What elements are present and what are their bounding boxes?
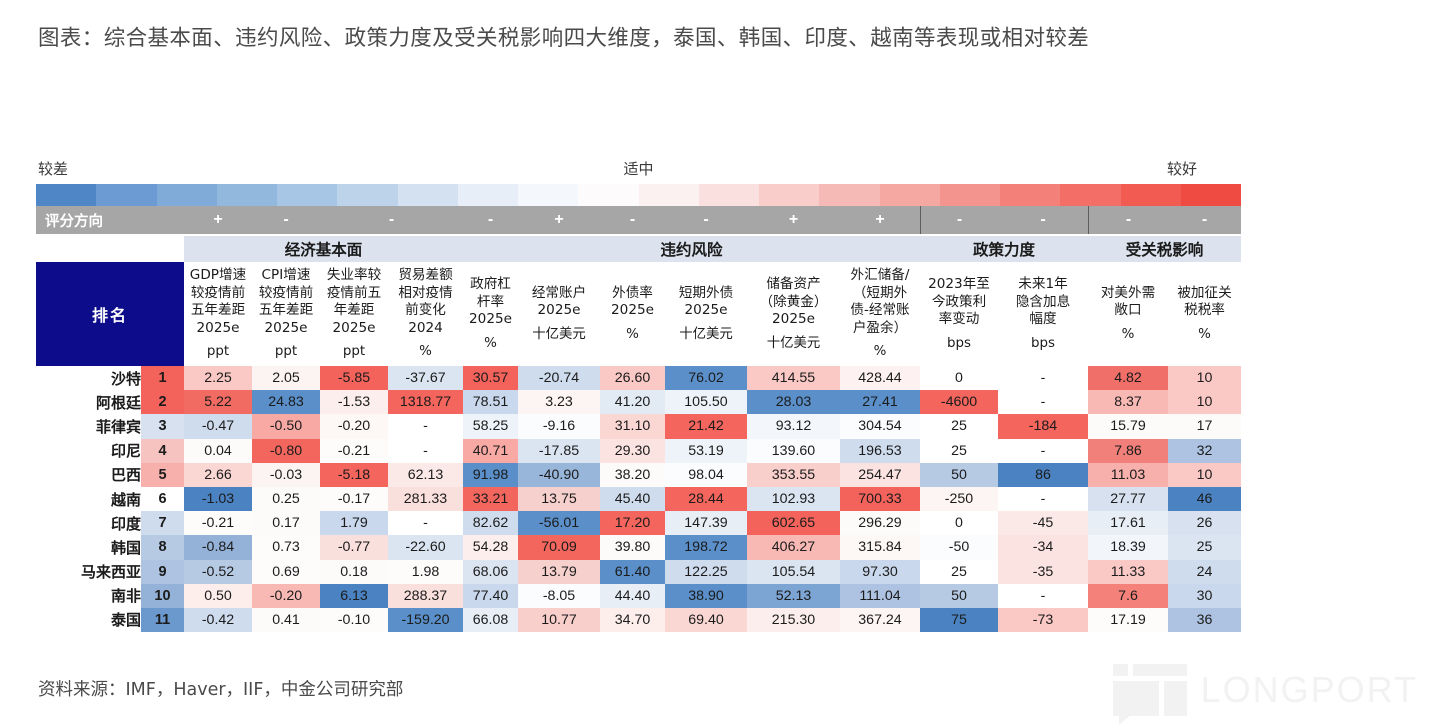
legend-swatch-17 xyxy=(1060,184,1120,206)
cell-value: 304.54 xyxy=(840,414,920,438)
cell-value: 82.62 xyxy=(463,511,518,535)
rank-value: 9 xyxy=(141,560,184,584)
country-name: 阿根廷 xyxy=(36,390,141,414)
column-header-unit: ppt xyxy=(184,343,252,361)
column-header-name: 失业率较疫情前五年差距2025e xyxy=(327,267,381,336)
cell-value: 97.30 xyxy=(840,560,920,584)
country-name: 越南 xyxy=(36,487,141,511)
column-header-unit: 十亿美元 xyxy=(747,335,840,353)
score-direction-11: - xyxy=(1088,206,1168,234)
cell-value: 428.44 xyxy=(840,366,920,390)
cell-value: -0.10 xyxy=(320,608,388,632)
column-header-3: 贸易差额相对疫情前变化2024% xyxy=(388,262,463,366)
column-header-name: 短期外债2025e xyxy=(679,285,733,319)
cell-value: 700.33 xyxy=(840,487,920,511)
legend-label-worse: 较差 xyxy=(38,158,68,179)
cell-value: 3.23 xyxy=(518,390,600,414)
legend-swatch-1 xyxy=(96,184,156,206)
cell-value: - xyxy=(998,487,1088,511)
column-header-name: 对美外需敞口 xyxy=(1101,285,1155,319)
cell-value: -40.90 xyxy=(518,463,600,487)
cell-value: 122.25 xyxy=(665,560,747,584)
cell-value: -250 xyxy=(920,487,998,511)
cell-value: -34 xyxy=(998,535,1088,559)
country-name: 马来西亚 xyxy=(36,560,141,584)
country-name: 印度 xyxy=(36,511,141,535)
column-header-10: 2023年至今政策利率变动bps xyxy=(920,262,998,366)
score-direction-6: - xyxy=(665,206,747,234)
cell-value: 70.09 xyxy=(518,535,600,559)
cell-value: 111.04 xyxy=(840,584,920,608)
cell-value: -22.60 xyxy=(388,535,463,559)
cell-value: 44.40 xyxy=(600,584,665,608)
rank-header: 排名 xyxy=(36,262,184,366)
table-row: 南非100.50-0.206.13288.3777.40-8.0544.4038… xyxy=(36,584,1241,608)
table-row: 沙特12.252.05-5.85-37.6730.57-20.7426.6076… xyxy=(36,366,1241,390)
cell-value: 353.55 xyxy=(747,463,840,487)
column-header-name: 经常账户2025e xyxy=(532,285,586,319)
cell-value: 0.69 xyxy=(252,560,320,584)
cell-value: 7.6 xyxy=(1088,584,1168,608)
cell-value: -0.77 xyxy=(320,535,388,559)
cell-value: 30.57 xyxy=(463,366,518,390)
cell-value: 75 xyxy=(920,608,998,632)
legend: 较差 适中 较好 评分方向+---+--++---- xyxy=(36,158,1241,234)
cell-value: 68.06 xyxy=(463,560,518,584)
table-row: 韩国8-0.840.73-0.77-22.6054.2870.0939.8019… xyxy=(36,535,1241,559)
cell-value: 26.60 xyxy=(600,366,665,390)
column-header-name: 政府杠杆率2025e xyxy=(469,276,512,327)
source-note: 资料来源：IMF，Haver，IIF，中金公司研究部 xyxy=(38,676,403,701)
table-row: 马来西亚9-0.520.690.181.9868.0613.7961.40122… xyxy=(36,560,1241,584)
column-header-unit: bps xyxy=(920,335,998,353)
cell-value: 18.39 xyxy=(1088,535,1168,559)
cell-value: 61.40 xyxy=(600,560,665,584)
column-header-8: 储备资产（除黄金）2025e十亿美元 xyxy=(747,262,840,366)
cell-value: 52.13 xyxy=(747,584,840,608)
cell-value: 86 xyxy=(998,463,1088,487)
rank-value: 3 xyxy=(141,414,184,438)
cell-value: -0.52 xyxy=(184,560,252,584)
cell-value: 367.24 xyxy=(840,608,920,632)
cell-value: -35 xyxy=(998,560,1088,584)
legend-swatch-19 xyxy=(1181,184,1241,206)
cell-value: 93.12 xyxy=(747,414,840,438)
rank-value: 4 xyxy=(141,439,184,463)
cell-value: -159.20 xyxy=(388,608,463,632)
column-header-unit: % xyxy=(1168,326,1241,344)
cell-value: 11.03 xyxy=(1088,463,1168,487)
score-direction-2: - xyxy=(320,206,463,234)
column-header-1: CPI增速较疫情前五年差距2025eppt xyxy=(252,262,320,366)
cell-value: 25 xyxy=(920,414,998,438)
cell-value: -0.17 xyxy=(320,487,388,511)
rank-value: 11 xyxy=(141,608,184,632)
score-direction-8: + xyxy=(840,206,920,234)
cell-value: 315.84 xyxy=(840,535,920,559)
cell-value: 13.79 xyxy=(518,560,600,584)
legend-swatch-14 xyxy=(880,184,940,206)
cell-value: - xyxy=(388,414,463,438)
column-header-name: 被加征关税税率 xyxy=(1177,285,1231,319)
country-name: 巴西 xyxy=(36,463,141,487)
score-direction-3: - xyxy=(463,206,518,234)
cell-value: -0.50 xyxy=(252,414,320,438)
legend-labels: 较差 适中 较好 xyxy=(36,158,1241,184)
cell-value: 215.30 xyxy=(747,608,840,632)
score-direction-10: - xyxy=(998,206,1088,234)
legend-swatch-10 xyxy=(639,184,699,206)
cell-value: 17.20 xyxy=(600,511,665,535)
column-header-name: 储备资产（除黄金）2025e xyxy=(760,276,828,327)
column-header-12: 对美外需敞口% xyxy=(1088,262,1168,366)
cell-value: 30 xyxy=(1168,584,1241,608)
group-header-3: 受关税影响 xyxy=(1088,236,1241,262)
cell-value: 54.28 xyxy=(463,535,518,559)
column-header-unit: % xyxy=(463,335,518,353)
cell-value: 36 xyxy=(1168,608,1241,632)
cell-value: -9.16 xyxy=(518,414,600,438)
cell-value: 24 xyxy=(1168,560,1241,584)
score-direction-5: - xyxy=(600,206,665,234)
cell-value: 147.39 xyxy=(665,511,747,535)
column-header-unit: % xyxy=(600,326,665,344)
country-name: 印尼 xyxy=(36,439,141,463)
column-header-unit: 十亿美元 xyxy=(518,326,600,344)
group-header-row: 经济基本面违约风险政策力度受关税影响 xyxy=(36,236,1241,262)
cell-value: - xyxy=(998,584,1088,608)
country-name: 菲律宾 xyxy=(36,414,141,438)
column-header-name: GDP增速较疫情前五年差距2025e xyxy=(190,267,246,336)
legend-swatch-4 xyxy=(277,184,337,206)
cell-value: 0.41 xyxy=(252,608,320,632)
cell-value: 45.40 xyxy=(600,487,665,511)
cell-value: 196.53 xyxy=(840,439,920,463)
score-direction-row: 评分方向+---+--++---- xyxy=(36,206,1241,234)
cell-value: -4600 xyxy=(920,390,998,414)
column-header-unit: 十亿美元 xyxy=(665,326,747,344)
cell-value: 7.86 xyxy=(1088,439,1168,463)
cell-value: 1.98 xyxy=(388,560,463,584)
cell-value: 91.98 xyxy=(463,463,518,487)
cell-value: 17 xyxy=(1168,414,1241,438)
legend-swatch-3 xyxy=(217,184,277,206)
cell-value: 102.93 xyxy=(747,487,840,511)
cell-value: - xyxy=(998,390,1088,414)
cell-value: 1.79 xyxy=(320,511,388,535)
column-header-name: 贸易差额相对疫情前变化2024 xyxy=(398,267,452,336)
cell-value: -0.20 xyxy=(252,584,320,608)
cell-value: 38.90 xyxy=(665,584,747,608)
legend-color-bar xyxy=(36,184,1241,206)
cell-value: 78.51 xyxy=(463,390,518,414)
legend-swatch-5 xyxy=(337,184,397,206)
cell-value: 414.55 xyxy=(747,366,840,390)
cell-value: 62.13 xyxy=(388,463,463,487)
column-header-11: 未来1年隐含加息幅度bps xyxy=(998,262,1088,366)
legend-swatch-11 xyxy=(699,184,759,206)
cell-value: -0.42 xyxy=(184,608,252,632)
cell-value: 39.80 xyxy=(600,535,665,559)
cell-value: 0.25 xyxy=(252,487,320,511)
column-header-unit: ppt xyxy=(252,343,320,361)
column-header-name: 未来1年隐含加息幅度 xyxy=(1016,276,1070,327)
cell-value: 2.25 xyxy=(184,366,252,390)
cell-value: 34.70 xyxy=(600,608,665,632)
group-header-spacer xyxy=(36,236,141,262)
score-direction-9: - xyxy=(920,206,998,234)
cell-value: -5.18 xyxy=(320,463,388,487)
legend-swatch-0 xyxy=(36,184,96,206)
column-header-unit: % xyxy=(840,343,920,361)
rank-value: 2 xyxy=(141,390,184,414)
cell-value: 2.05 xyxy=(252,366,320,390)
cell-value: 288.37 xyxy=(388,584,463,608)
cell-value: -1.03 xyxy=(184,487,252,511)
cell-value: 53.19 xyxy=(665,439,747,463)
cell-value: 27.41 xyxy=(840,390,920,414)
longport-logo-icon xyxy=(1113,664,1187,716)
column-header-unit: % xyxy=(388,343,463,361)
cell-value: 0.17 xyxy=(252,511,320,535)
column-header-row: 排名 GDP增速较疫情前五年差距2025epptCPI增速较疫情前五年差距202… xyxy=(36,262,1241,366)
cell-value: 2.66 xyxy=(184,463,252,487)
cell-value: 76.02 xyxy=(665,366,747,390)
legend-swatch-12 xyxy=(759,184,819,206)
cell-value: -73 xyxy=(998,608,1088,632)
cell-value: 10 xyxy=(1168,366,1241,390)
cell-value: 0 xyxy=(920,511,998,535)
cell-value: -56.01 xyxy=(518,511,600,535)
cell-value: -0.84 xyxy=(184,535,252,559)
cell-value: 281.33 xyxy=(388,487,463,511)
cell-value: 28.44 xyxy=(665,487,747,511)
cell-value: 15.79 xyxy=(1088,414,1168,438)
country-name: 泰国 xyxy=(36,608,141,632)
cell-value: 69.40 xyxy=(665,608,747,632)
legend-swatch-18 xyxy=(1121,184,1181,206)
cell-value: -0.47 xyxy=(184,414,252,438)
cell-value: -8.05 xyxy=(518,584,600,608)
cell-value: 66.08 xyxy=(463,608,518,632)
cell-value: 0 xyxy=(920,366,998,390)
cell-value: 0.18 xyxy=(320,560,388,584)
table-row: 印尼40.04-0.80-0.21-40.71-17.8529.3053.191… xyxy=(36,439,1241,463)
legend-swatch-2 xyxy=(157,184,217,206)
cell-value: -184 xyxy=(998,414,1088,438)
cell-value: 105.54 xyxy=(747,560,840,584)
score-direction-1: - xyxy=(252,206,320,234)
cell-value: 10 xyxy=(1168,390,1241,414)
cell-value: 198.72 xyxy=(665,535,747,559)
cell-value: 4.82 xyxy=(1088,366,1168,390)
cell-value: 17.19 xyxy=(1088,608,1168,632)
country-name: 沙特 xyxy=(36,366,141,390)
cell-value: 11.33 xyxy=(1088,560,1168,584)
cell-value: 77.40 xyxy=(463,584,518,608)
legend-swatch-9 xyxy=(578,184,638,206)
legend-swatch-7 xyxy=(458,184,518,206)
table-row: 越南6-1.030.25-0.17281.3333.2113.7545.4028… xyxy=(36,487,1241,511)
cell-value: 0.50 xyxy=(184,584,252,608)
score-direction-12: - xyxy=(1168,206,1241,234)
rank-value: 10 xyxy=(141,584,184,608)
cell-value: 602.65 xyxy=(747,511,840,535)
cell-value: -5.85 xyxy=(320,366,388,390)
group-header-2: 政策力度 xyxy=(920,236,1088,262)
cell-value: 13.75 xyxy=(518,487,600,511)
cell-value: - xyxy=(998,366,1088,390)
column-header-2: 失业率较疫情前五年差距2025eppt xyxy=(320,262,388,366)
cell-value: 58.25 xyxy=(463,414,518,438)
column-header-name: 外债率2025e xyxy=(611,285,654,319)
cell-value: 21.42 xyxy=(665,414,747,438)
cell-value: 40.71 xyxy=(463,439,518,463)
cell-value: 0.73 xyxy=(252,535,320,559)
cell-value: 25 xyxy=(920,560,998,584)
cell-value: -37.67 xyxy=(388,366,463,390)
cell-value: 31.10 xyxy=(600,414,665,438)
column-header-unit: % xyxy=(1088,326,1168,344)
cell-value: 25 xyxy=(920,439,998,463)
country-name: 韩国 xyxy=(36,535,141,559)
cell-value: 105.50 xyxy=(665,390,747,414)
cell-value: 38.20 xyxy=(600,463,665,487)
page-title: 图表：综合基本面、违约风险、政策力度及受关税影响四大维度，泰国、韩国、印度、越南… xyxy=(38,16,1398,62)
cell-value: -0.20 xyxy=(320,414,388,438)
table-row: 巴西52.66-0.03-5.1862.1391.98-40.9038.2098… xyxy=(36,463,1241,487)
cell-value: 98.04 xyxy=(665,463,747,487)
legend-swatch-8 xyxy=(518,184,578,206)
cell-value: 32 xyxy=(1168,439,1241,463)
column-header-6: 外债率2025e% xyxy=(600,262,665,366)
cell-value: 10 xyxy=(1168,463,1241,487)
cell-value: 0.04 xyxy=(184,439,252,463)
column-header-unit: bps xyxy=(998,335,1088,353)
legend-swatch-15 xyxy=(940,184,1000,206)
cell-value: 24.83 xyxy=(252,390,320,414)
score-direction-0: + xyxy=(184,206,252,234)
column-header-4: 政府杠杆率2025e% xyxy=(463,262,518,366)
cell-value: 8.37 xyxy=(1088,390,1168,414)
cell-value: 28.03 xyxy=(747,390,840,414)
cell-value: 10.77 xyxy=(518,608,600,632)
group-header-spacer-rank xyxy=(141,236,184,262)
cell-value: 27.77 xyxy=(1088,487,1168,511)
cell-value: - xyxy=(388,439,463,463)
watermark: LONGPORT xyxy=(1113,664,1418,716)
legend-swatch-13 xyxy=(819,184,879,206)
table-row: 菲律宾3-0.47-0.50-0.20-58.25-9.1631.1021.42… xyxy=(36,414,1241,438)
cell-value: -0.03 xyxy=(252,463,320,487)
cell-value: 5.22 xyxy=(184,390,252,414)
watermark-text: LONGPORT xyxy=(1201,669,1418,711)
cell-value: - xyxy=(998,439,1088,463)
rank-value: 8 xyxy=(141,535,184,559)
cell-value: -50 xyxy=(920,535,998,559)
cell-value: -0.21 xyxy=(184,511,252,535)
score-direction-4: + xyxy=(518,206,600,234)
cell-value: 25 xyxy=(1168,535,1241,559)
cell-value: -1.53 xyxy=(320,390,388,414)
cell-value: 1318.77 xyxy=(388,390,463,414)
table-body: 沙特12.252.05-5.85-37.6730.57-20.7426.6076… xyxy=(36,366,1241,632)
cell-value: 406.27 xyxy=(747,535,840,559)
legend-swatch-16 xyxy=(1000,184,1060,206)
rank-value: 6 xyxy=(141,487,184,511)
cell-value: 50 xyxy=(920,463,998,487)
column-header-5: 经常账户2025e十亿美元 xyxy=(518,262,600,366)
table-row: 印度7-0.210.171.79-82.62-56.0117.20147.396… xyxy=(36,511,1241,535)
cell-value: -45 xyxy=(998,511,1088,535)
cell-value: -0.80 xyxy=(252,439,320,463)
cell-value: -17.85 xyxy=(518,439,600,463)
cell-value: 254.47 xyxy=(840,463,920,487)
cell-value: -0.21 xyxy=(320,439,388,463)
rank-value: 7 xyxy=(141,511,184,535)
country-scorecard-table: 经济基本面违约风险政策力度受关税影响 排名 GDP增速较疫情前五年差距2025e… xyxy=(36,236,1241,632)
group-header-1: 违约风险 xyxy=(463,236,920,262)
column-header-name: 2023年至今政策利率变动 xyxy=(928,276,990,327)
table-row: 阿根廷25.2224.83-1.531318.7778.513.2341.201… xyxy=(36,390,1241,414)
table-row: 泰国11-0.420.41-0.10-159.2066.0810.7734.70… xyxy=(36,608,1241,632)
legend-label-better: 较好 xyxy=(1167,158,1197,179)
column-header-name: 外汇储备/（短期外债-经常账户盈余） xyxy=(850,267,909,336)
cell-value: 41.20 xyxy=(600,390,665,414)
legend-label-moderate: 适中 xyxy=(623,158,653,179)
cell-value: 26 xyxy=(1168,511,1241,535)
cell-value: 6.13 xyxy=(320,584,388,608)
cell-value: -20.74 xyxy=(518,366,600,390)
column-header-name: CPI增速较疫情前五年差距2025e xyxy=(259,267,313,336)
cell-value: 139.60 xyxy=(747,439,840,463)
cell-value: 33.21 xyxy=(463,487,518,511)
column-header-7: 短期外债2025e十亿美元 xyxy=(665,262,747,366)
legend-swatch-6 xyxy=(398,184,458,206)
column-header-0: GDP增速较疫情前五年差距2025eppt xyxy=(184,262,252,366)
rank-value: 1 xyxy=(141,366,184,390)
score-direction-7: + xyxy=(747,206,840,234)
column-header-unit: ppt xyxy=(320,343,388,361)
cell-value: 29.30 xyxy=(600,439,665,463)
cell-value: 296.29 xyxy=(840,511,920,535)
column-header-13: 被加征关税税率% xyxy=(1168,262,1241,366)
cell-value: 46 xyxy=(1168,487,1241,511)
cell-value: - xyxy=(388,511,463,535)
rank-value: 5 xyxy=(141,463,184,487)
country-name: 南非 xyxy=(36,584,141,608)
group-header-0: 经济基本面 xyxy=(184,236,463,262)
column-header-9: 外汇储备/（短期外债-经常账户盈余）% xyxy=(840,262,920,366)
cell-value: 17.61 xyxy=(1088,511,1168,535)
cell-value: 50 xyxy=(920,584,998,608)
score-direction-label: 评分方向 xyxy=(36,210,184,231)
